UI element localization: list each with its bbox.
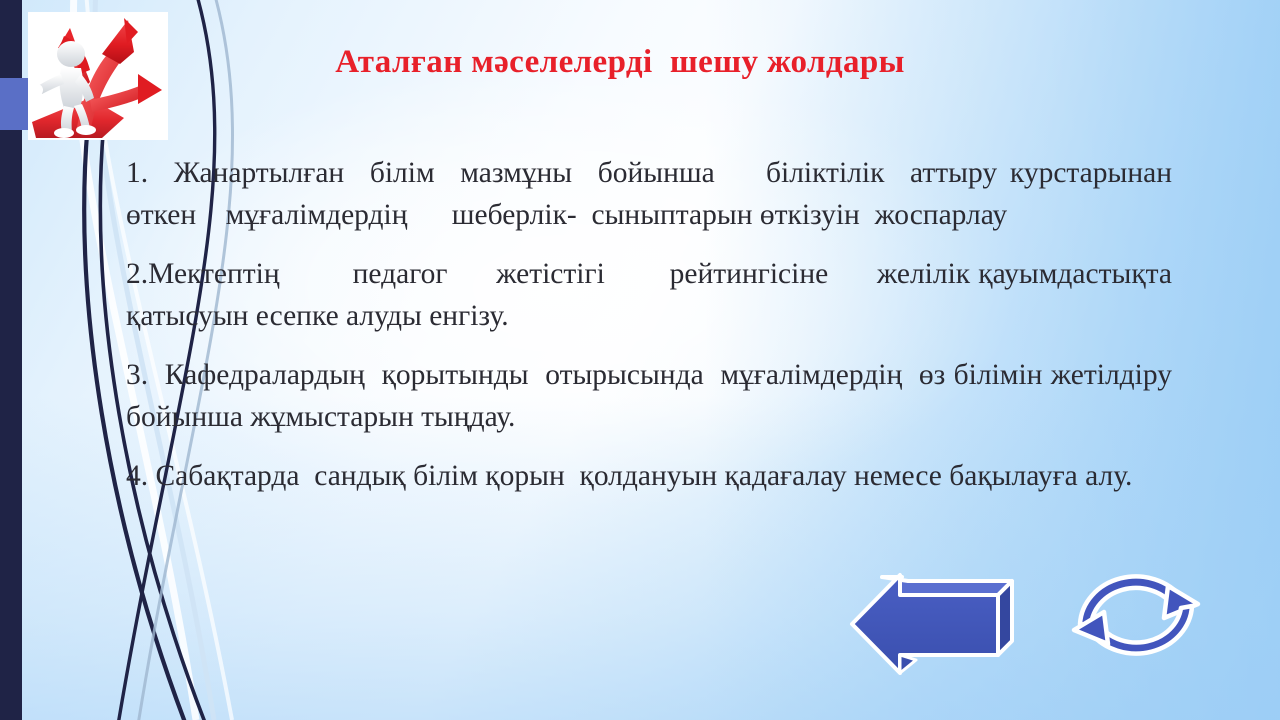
back-arrow-icon [846, 563, 1028, 675]
branching-arrows-logo [28, 12, 168, 140]
slide-canvas: Аталған мәселелерді шешу жолдары 1. Жана… [0, 0, 1280, 720]
body-paragraph-4: 4. Сабақтарда сандық білім қорын қолдану… [126, 455, 1172, 497]
body-paragraph-1: 1. Жанартылған білім мазмұны бойынша біл… [126, 152, 1172, 237]
slide-body: 1. Жанартылған білім мазмұны бойынша біл… [126, 152, 1172, 497]
cycle-arrows-icon [1064, 552, 1208, 678]
three-red-arrows-icon [28, 12, 168, 140]
slide-title: Аталған мәселелерді шешу жолдары [190, 44, 1050, 80]
body-paragraph-2: 2.Мектептің педагог жетістігі рейтингісі… [126, 253, 1172, 338]
body-paragraph-3: 3. Кафедралардың қорытынды отырысында мұ… [126, 354, 1172, 439]
